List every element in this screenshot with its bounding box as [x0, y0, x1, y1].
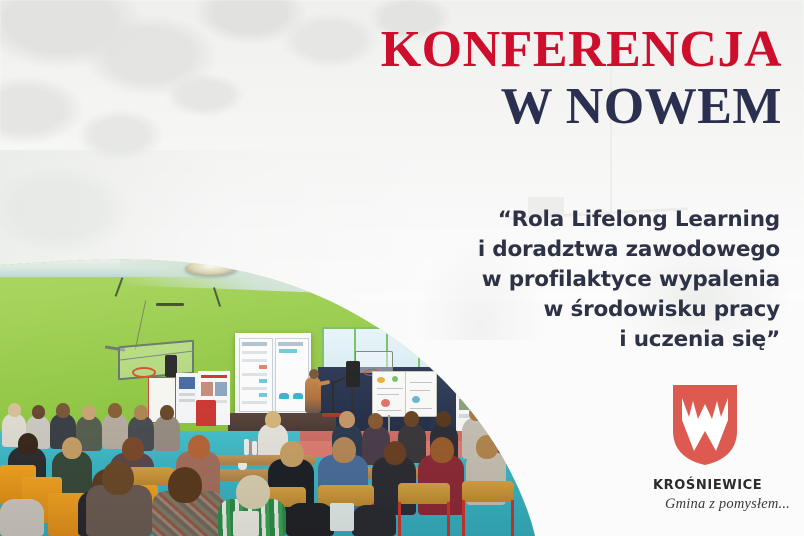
audience-member [286, 503, 334, 536]
title-line-w-nowem: W NOWEM [381, 78, 782, 136]
audience-head [8, 403, 21, 417]
audience-head [332, 437, 356, 463]
pa-speaker-right-icon [346, 361, 360, 387]
wall-bar-icon [156, 303, 184, 306]
handbag-icon [330, 503, 354, 531]
audience-member [154, 415, 180, 451]
audience-head [122, 437, 144, 461]
cup-icon [238, 463, 247, 470]
microphone-stand [332, 381, 334, 415]
rollup-banner-middle [176, 373, 198, 423]
municipality-name: KROŚNIEWICE [653, 478, 804, 493]
poster-subtitle-quote: “Rola Lifelong Learning i doradztwa zawo… [410, 205, 780, 355]
audience-head-foreground [236, 475, 270, 509]
flipchart-stand [388, 415, 390, 431]
audience-head-foreground [168, 467, 202, 503]
projection-screen [235, 333, 311, 415]
audience-head [160, 405, 174, 420]
audience-head [368, 413, 383, 429]
chair-leg [511, 500, 514, 536]
audience-head [56, 403, 70, 418]
chair-leg [447, 502, 450, 536]
audience-head [384, 441, 406, 465]
audience-head [469, 405, 484, 421]
water-bottle-icon [252, 441, 257, 455]
subtitle-line: i uczenia się” [410, 325, 780, 355]
chair-backrest [398, 483, 450, 504]
subtitle-line: w środowisku pracy [410, 295, 780, 325]
red-equipment-cart [196, 400, 216, 426]
poster-title: KONFERENCJA W NOWEM [381, 22, 782, 136]
audience-head [476, 435, 498, 459]
heraldic-w-icon [682, 398, 728, 451]
audience-head [280, 441, 304, 467]
audience-head [404, 411, 419, 427]
subtitle-line: w profilaktyce wypalenia [410, 265, 780, 295]
audience-head [265, 411, 281, 428]
audience-head [436, 411, 451, 427]
audience-head [82, 405, 96, 420]
handbag-icon [233, 511, 259, 536]
audience-head [62, 437, 82, 459]
audience-head [499, 407, 514, 423]
chair-backrest [462, 481, 514, 502]
audience-head-foreground [102, 461, 134, 495]
flipchart-sheet-left [372, 371, 408, 417]
audience-head [134, 405, 148, 420]
municipality-tagline: Gmina z pomysłem... [653, 496, 804, 513]
audience-head [430, 437, 454, 463]
audience-member [352, 505, 396, 536]
title-line-konferencja: KONFERENCJA [381, 22, 782, 78]
audience-head [32, 405, 45, 419]
audience-member-foreground [0, 499, 44, 536]
presenter-head [309, 369, 319, 379]
krosniewice-coat-of-arms-shield-icon [673, 385, 737, 465]
subtitle-line: “Rola Lifelong Learning [410, 205, 780, 235]
chair-leg [398, 502, 401, 536]
audience-head [108, 403, 122, 418]
conference-poster: KONFERENCJA W NOWEM “Rola Lifelong Learn… [0, 0, 804, 536]
chair-leg [462, 500, 465, 536]
audience-head [188, 435, 210, 459]
audience-head [339, 411, 355, 428]
water-bottle-icon [244, 439, 249, 455]
audience-head [18, 433, 38, 455]
subtitle-line: i doradztwa zawodowego [410, 235, 780, 265]
